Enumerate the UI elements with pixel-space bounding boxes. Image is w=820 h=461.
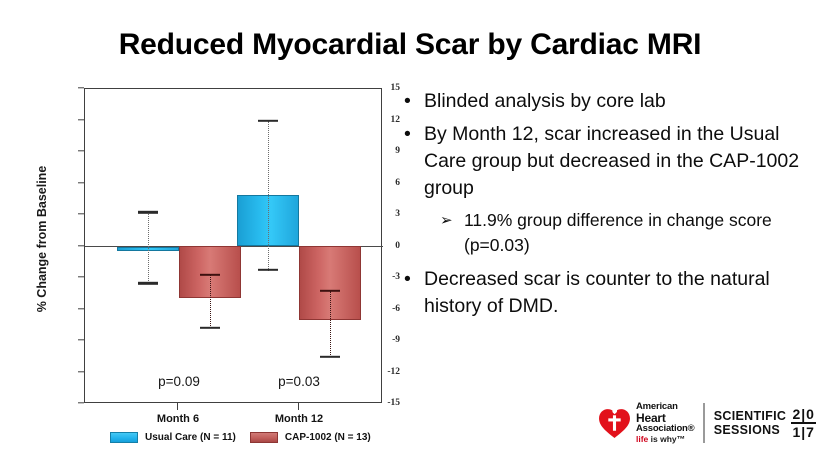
error-cap-upper-usual-care-month6 (138, 211, 158, 213)
list-item-text: Blinded analysis by core lab (424, 88, 808, 115)
p-value-month6: p=0.09 (158, 374, 200, 389)
ss-year-bottom: 1|7 (792, 425, 815, 439)
bullet-dot-icon: • (404, 121, 424, 148)
tagline-is-why: is why™ (648, 434, 685, 444)
error-bar-cap1002-month6 (210, 275, 211, 328)
error-cap-lower-usual-care-month6 (138, 282, 158, 284)
x-tick-mark-month12 (298, 403, 299, 410)
aha-line-association: Association® (636, 424, 694, 434)
list-item-text: 11.9% group difference in change score (… (464, 208, 808, 258)
legend-label-usual-care: Usual Care (N = 11) (145, 432, 236, 443)
scientific-sessions-year: 2|0 1|7 (791, 407, 816, 439)
x-tick-mark-month6 (177, 403, 178, 410)
plot-area: p=0.09 p=0.03 (84, 88, 382, 403)
scientific-sessions-logo: SCIENTIFIC SESSIONS 2|0 1|7 (714, 407, 816, 439)
ss-line-scientific: SCIENTIFIC (714, 409, 786, 423)
x-tick-label-month12: Month 12 (275, 413, 323, 425)
slide-canvas: Reduced Myocardial Scar by Cardiac MRI %… (0, 0, 820, 461)
aha-wordmark: American Heart Association® life is why™ (636, 402, 694, 444)
error-cap-upper-usual-care-month12 (258, 119, 278, 121)
legend-swatch-cap1002 (250, 432, 278, 443)
list-item-text: By Month 12, scar increased in the Usual… (424, 121, 808, 202)
legend-label-cap1002: CAP-1002 (N = 13) (285, 432, 371, 443)
error-cap-upper-cap1002-month12 (320, 290, 340, 292)
error-bar-usual-care-month12 (268, 121, 269, 271)
bullet-dot-icon: • (404, 88, 424, 115)
scientific-sessions-wordmark: SCIENTIFIC SESSIONS (714, 409, 786, 437)
ss-year-top: 2|0 (792, 407, 815, 421)
list-item: • Decreased scar is counter to the natur… (404, 266, 808, 320)
legend-swatch-usual-care (110, 432, 138, 443)
error-cap-lower-usual-care-month12 (258, 268, 278, 270)
ss-line-sessions: SESSIONS (714, 423, 786, 437)
logo-divider (703, 403, 704, 443)
legend-entry-cap1002[interactable]: CAP-1002 (N = 13) (250, 432, 371, 443)
error-cap-upper-cap1002-month6 (200, 274, 220, 276)
list-item-text: Decreased scar is counter to the natural… (424, 266, 808, 320)
chart-legend: Usual Care (N = 11) CAP-1002 (N = 13) (110, 432, 371, 443)
aha-tagline: life is why™ (636, 435, 694, 444)
error-bar-usual-care-month6 (148, 212, 149, 280)
list-item-sub: ➢ 11.9% group difference in change score… (404, 208, 808, 258)
bullet-arrow-icon: ➢ (440, 208, 464, 233)
legend-entry-usual-care[interactable]: Usual Care (N = 11) (110, 432, 236, 443)
tagline-life: life (636, 434, 648, 444)
list-item: • By Month 12, scar increased in the Usu… (404, 121, 808, 202)
list-item: • Blinded analysis by core lab (404, 88, 808, 115)
bullet-dot-icon: • (404, 266, 424, 293)
logo-bar: American Heart Association® life is why™… (598, 396, 814, 450)
american-heart-association-logo: American Heart Association® life is why™ (598, 402, 694, 444)
page-title: Reduced Myocardial Scar by Cardiac MRI (0, 28, 820, 62)
error-cap-lower-cap1002-month6 (200, 326, 220, 328)
mri-scar-bar-chart: % Change from Baseline 15 12 9 6 3 0 -3 … (18, 80, 400, 460)
p-value-month12: p=0.03 (278, 374, 320, 389)
y-axis-title: % Change from Baseline (35, 149, 49, 329)
heart-torch-icon (598, 406, 631, 439)
error-bar-cap1002-month12 (330, 291, 331, 357)
bullet-list: • Blinded analysis by core lab • By Mont… (404, 88, 808, 326)
error-cap-lower-cap1002-month12 (320, 356, 340, 358)
x-tick-label-month6: Month 6 (157, 413, 199, 425)
aha-line-heart: Heart (636, 412, 694, 424)
